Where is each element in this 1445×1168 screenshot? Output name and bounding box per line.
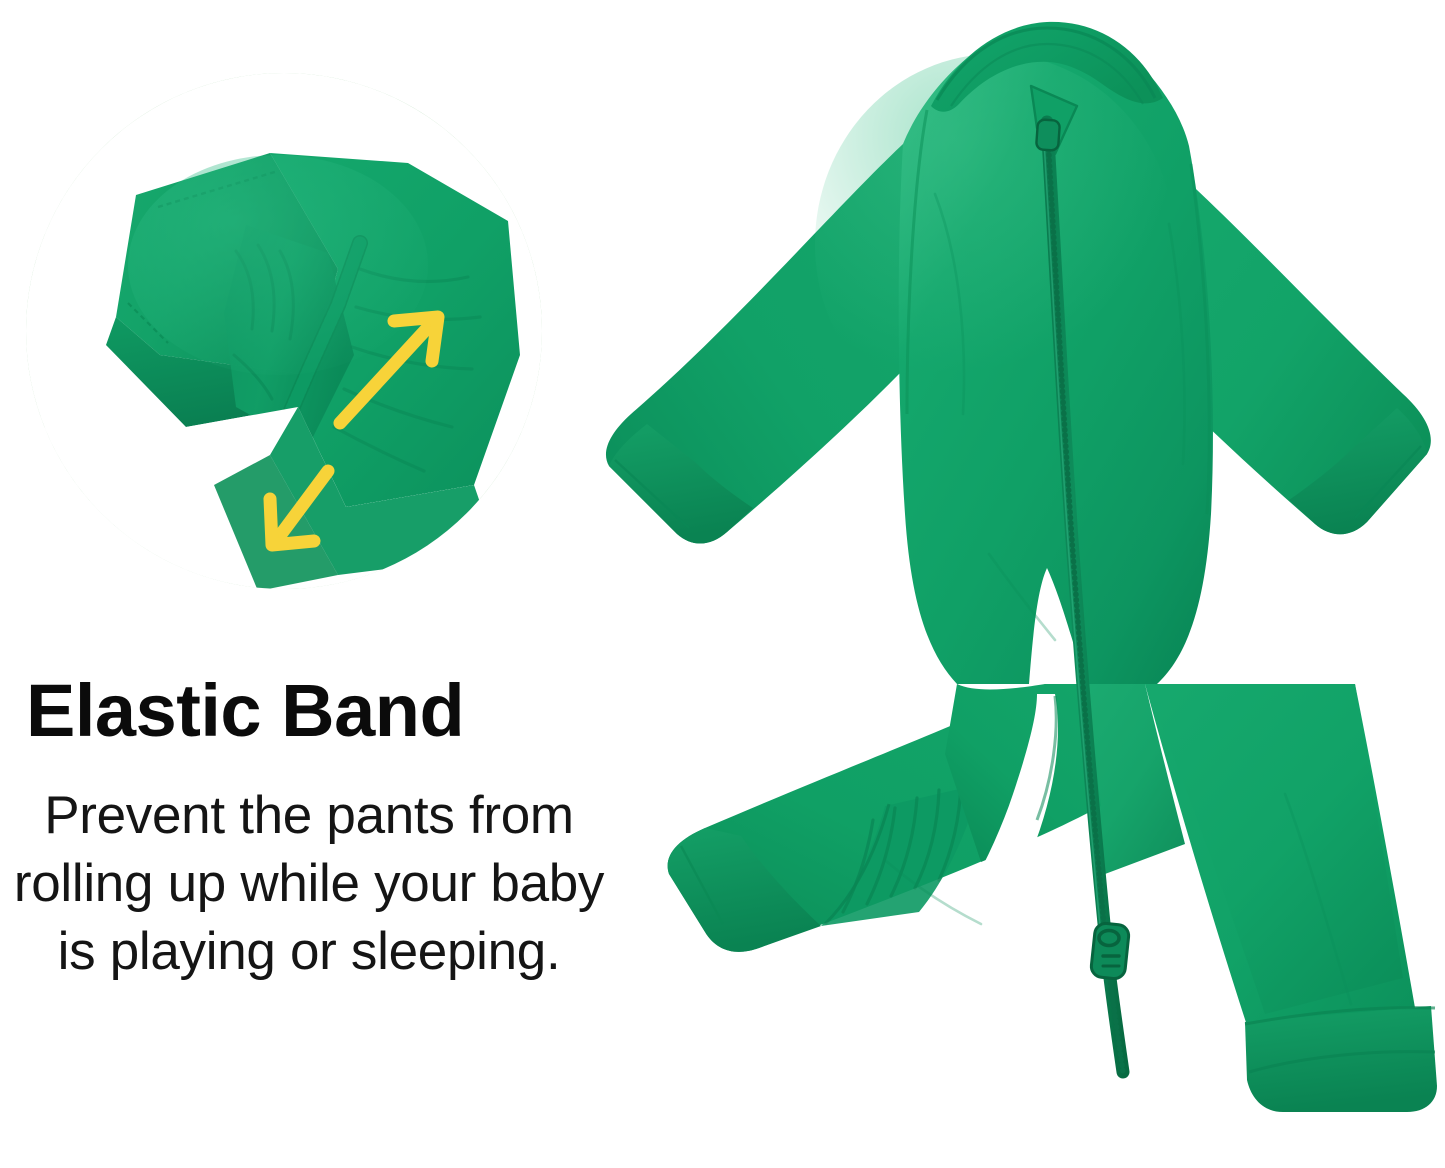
inset-photo bbox=[8, 55, 560, 607]
infographic-page: Elastic Band Prevent the pants from roll… bbox=[0, 0, 1445, 1168]
feature-text-block: Elastic Band Prevent the pants from roll… bbox=[0, 672, 618, 986]
feature-description: Prevent the pants from rolling up while … bbox=[0, 750, 618, 985]
page-title: Elastic Band bbox=[0, 672, 618, 750]
zipper-top-slider bbox=[1036, 119, 1060, 150]
detail-circle-inset bbox=[8, 55, 560, 607]
zipper-pull bbox=[1090, 922, 1129, 979]
right-leg-cuff bbox=[1245, 1006, 1437, 1112]
product-image-romper bbox=[585, 0, 1445, 1168]
